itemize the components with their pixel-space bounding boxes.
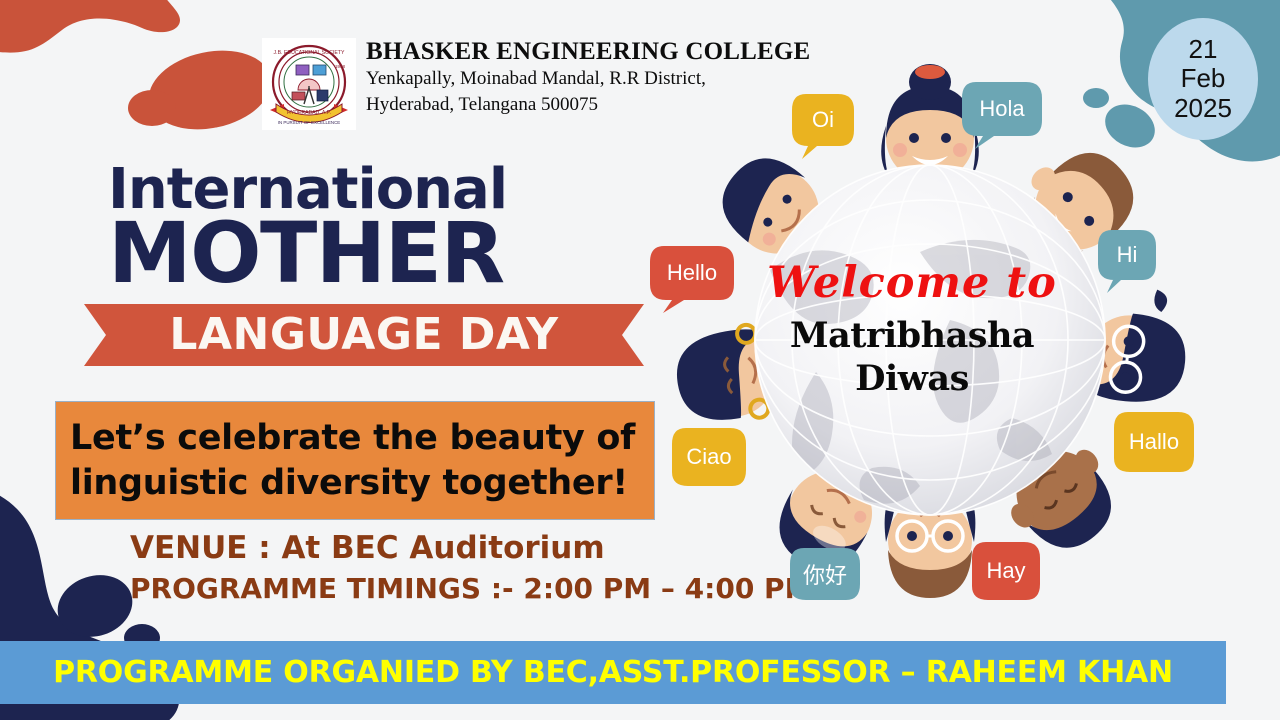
speech-bubble-text: Ciao bbox=[686, 444, 731, 470]
speech-bubble: Hi bbox=[1098, 230, 1156, 280]
speech-bubble: Hay bbox=[972, 542, 1040, 600]
speech-bubble-text: Hello bbox=[667, 260, 717, 286]
svg-text:HYDERABAD, A.P.: HYDERABAD, A.P. bbox=[287, 110, 331, 116]
speech-bubble: Oi bbox=[792, 94, 854, 146]
globe bbox=[755, 165, 1105, 515]
speech-bubble: Ciao bbox=[672, 428, 746, 486]
svg-text:J.B. EDUCATIONAL SOCIETY: J.B. EDUCATIONAL SOCIETY bbox=[274, 50, 345, 56]
svg-text:IN PURSUIT OF EXCELLENCE: IN PURSUIT OF EXCELLENCE bbox=[278, 120, 340, 125]
tagline-line-1: Let’s celebrate the beauty of bbox=[70, 416, 654, 461]
title-ribbon: LANGUAGE DAY bbox=[84, 304, 644, 366]
tagline-callout: Let’s celebrate the beauty of linguistic… bbox=[55, 401, 655, 520]
speech-bubble: Hallo bbox=[1114, 412, 1194, 472]
title-line-mother: MOTHER bbox=[108, 214, 668, 294]
speech-bubble-text: 你好 bbox=[803, 558, 847, 590]
title-line-language-day: LANGUAGE DAY bbox=[84, 304, 644, 366]
poster-canvas: 21 Feb 2025 J.B. EDUCATIONAL SOCIETY bbox=[0, 0, 1280, 720]
footer-credit-text: PROGRAMME ORGANIED BY BEC,ASST.PROFESSOR… bbox=[0, 641, 1226, 704]
globe-people-illustration bbox=[620, 20, 1240, 640]
speech-bubble-text: Oi bbox=[812, 107, 834, 133]
venue-text: VENUE : At BEC Auditorium bbox=[130, 530, 605, 566]
speech-bubble: Hola bbox=[962, 82, 1042, 136]
event-title-block: International MOTHER LANGUAGE DAY bbox=[108, 162, 668, 366]
speech-bubble-text: Hola bbox=[979, 96, 1024, 122]
speech-bubble: Hello bbox=[650, 246, 734, 300]
speech-bubble-text: Hallo bbox=[1129, 429, 1179, 455]
speech-bubble: 你好 bbox=[790, 548, 860, 600]
speech-bubble-text: Hay bbox=[986, 558, 1025, 584]
speech-bubble-text: Hi bbox=[1117, 242, 1138, 268]
tagline-line-2: linguistic diversity together! bbox=[70, 461, 654, 506]
svg-text:1998: 1998 bbox=[335, 64, 346, 69]
college-logo-icon: J.B. EDUCATIONAL SOCIETY HYDERABAD, A.P.… bbox=[262, 38, 356, 130]
